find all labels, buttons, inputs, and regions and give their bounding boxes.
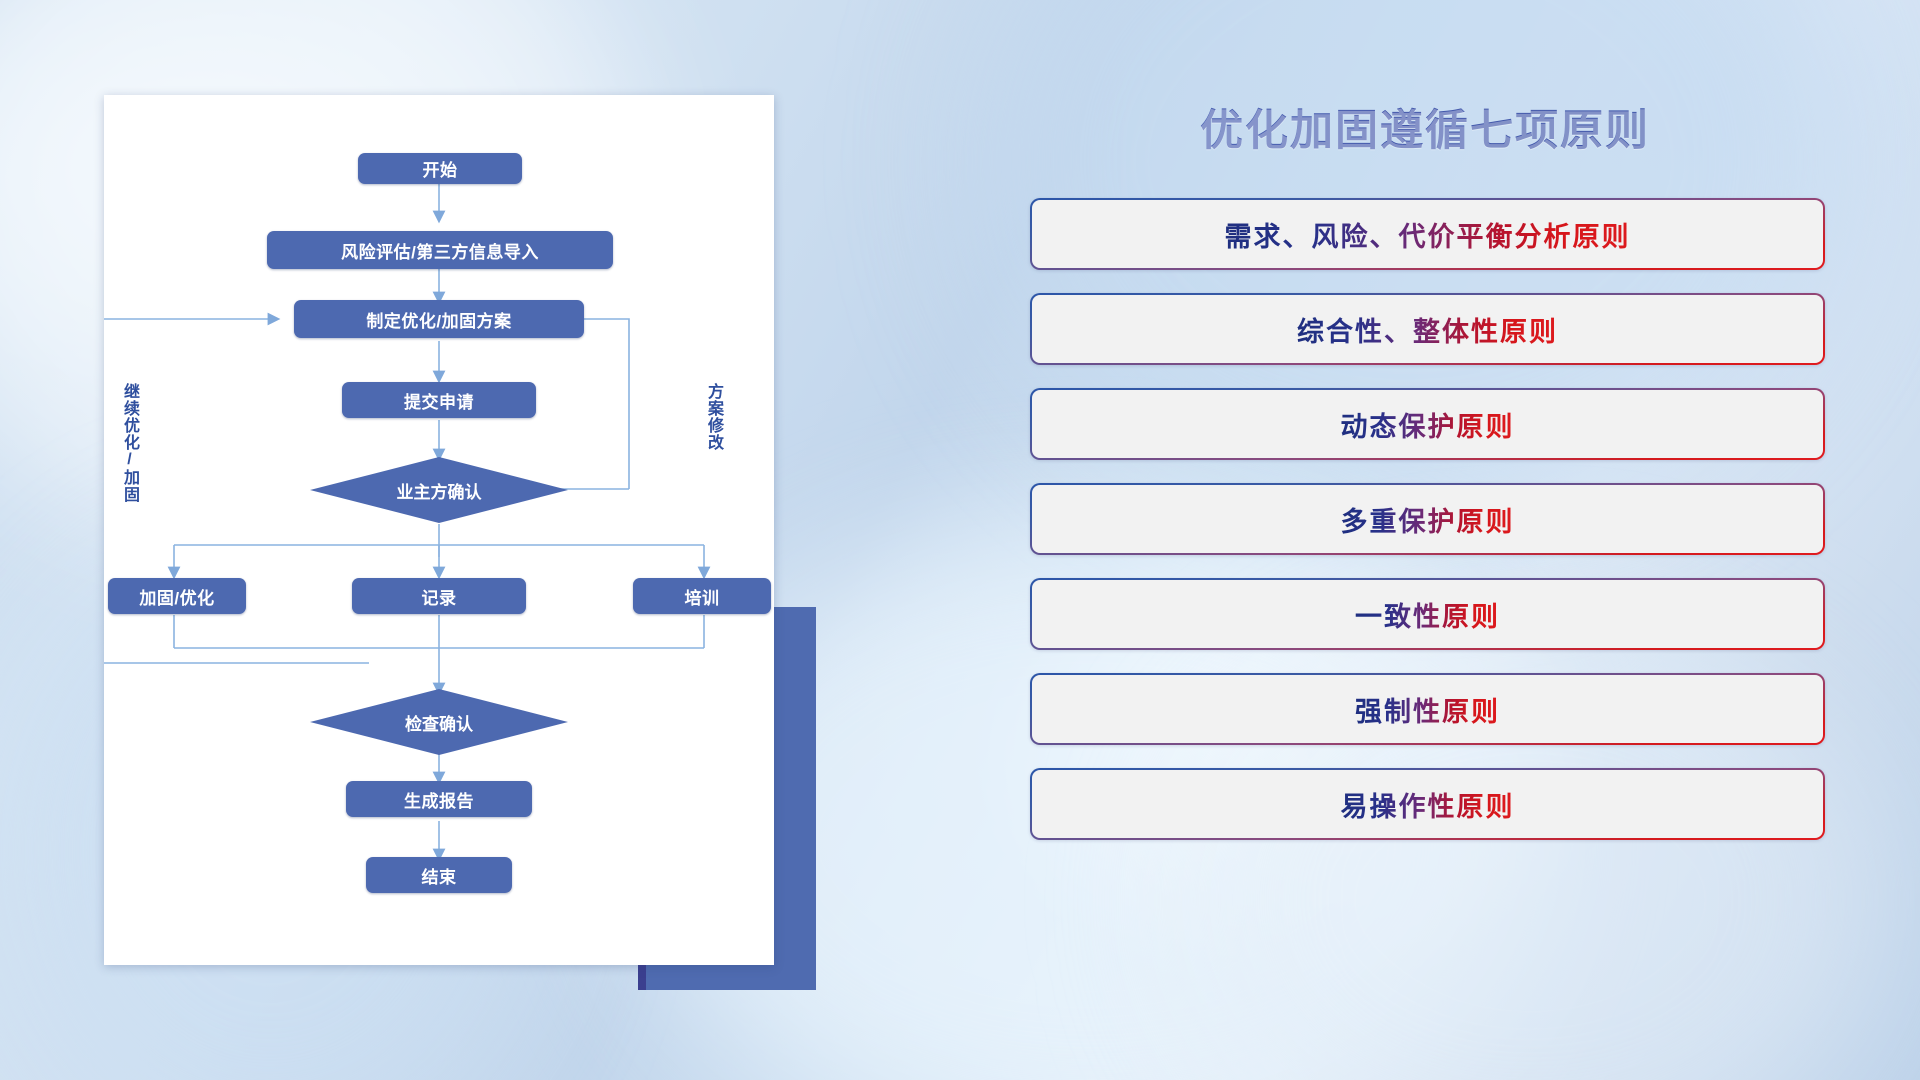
flow-node-reinforce-optimize[interactable]: 加固/优化 bbox=[108, 578, 246, 614]
principle-label-1: 需求、风险、代价平衡分析原则 bbox=[1225, 215, 1631, 254]
flow-node-start[interactable]: 开始 bbox=[358, 153, 522, 184]
principle-card-1[interactable]: 需求、风险、代价平衡分析原则 bbox=[1030, 198, 1825, 270]
flow-decision-check-confirm-label: 检查确认 bbox=[405, 710, 473, 735]
principle-card-inner: 综合性、整体性原则 bbox=[1032, 295, 1823, 363]
flow-node-plan-label: 制定优化/加固方案 bbox=[366, 307, 511, 332]
principle-label-4: 多重保护原则 bbox=[1341, 500, 1515, 539]
principles-panel: 优化加固遵循七项原则 需求、风险、代价平衡分析原则 综合性、整体性原则 动态保护… bbox=[1000, 80, 1850, 1010]
principle-card-inner: 多重保护原则 bbox=[1032, 485, 1823, 553]
flow-node-training-label: 培训 bbox=[685, 584, 720, 609]
flow-node-start-label: 开始 bbox=[423, 156, 458, 181]
flow-node-training[interactable]: 培训 bbox=[633, 578, 771, 614]
flow-node-risk-assessment-label: 风险评估/第三方信息导入 bbox=[341, 238, 539, 263]
principle-card-4[interactable]: 多重保护原则 bbox=[1030, 483, 1825, 555]
flow-edge-label-plan-revision: 方案修改 bbox=[704, 383, 721, 451]
slide-canvas: 开始 风险评估/第三方信息导入 制定优化/加固方案 提交申请 业主方确认 加固/… bbox=[0, 0, 1920, 1080]
principle-label-3: 动态保护原则 bbox=[1341, 405, 1515, 444]
principle-card-5[interactable]: 一致性原则 bbox=[1030, 578, 1825, 650]
flowchart-connectors bbox=[104, 95, 774, 965]
principle-label-6: 强制性原则 bbox=[1355, 690, 1500, 729]
flow-node-record[interactable]: 记录 bbox=[352, 578, 526, 614]
principle-card-inner: 动态保护原则 bbox=[1032, 390, 1823, 458]
flow-node-generate-report[interactable]: 生成报告 bbox=[346, 781, 532, 817]
flow-node-plan[interactable]: 制定优化/加固方案 bbox=[294, 300, 584, 338]
principle-card-inner: 易操作性原则 bbox=[1032, 770, 1823, 838]
flow-node-record-label: 记录 bbox=[422, 584, 457, 609]
flow-edge-label-continue-optimize: 继续优化/加固 bbox=[120, 383, 137, 503]
flow-decision-owner-confirm-label: 业主方确认 bbox=[397, 478, 482, 503]
principle-card-2[interactable]: 综合性、整体性原则 bbox=[1030, 293, 1825, 365]
flowchart-sheet: 开始 风险评估/第三方信息导入 制定优化/加固方案 提交申请 业主方确认 加固/… bbox=[104, 95, 774, 965]
flow-node-submit-application[interactable]: 提交申请 bbox=[342, 382, 536, 418]
flow-node-end[interactable]: 结束 bbox=[366, 857, 512, 893]
flow-node-end-label: 结束 bbox=[422, 863, 457, 888]
flow-decision-check-confirm[interactable]: 检查确认 bbox=[310, 689, 568, 755]
flow-node-risk-assessment[interactable]: 风险评估/第三方信息导入 bbox=[267, 231, 613, 269]
flow-node-reinforce-optimize-label: 加固/优化 bbox=[139, 584, 214, 609]
principle-card-7[interactable]: 易操作性原则 bbox=[1030, 768, 1825, 840]
flow-node-submit-application-label: 提交申请 bbox=[404, 388, 474, 413]
principles-list: 需求、风险、代价平衡分析原则 综合性、整体性原则 动态保护原则 多重保护原则 bbox=[1030, 198, 1825, 863]
principle-card-inner: 一致性原则 bbox=[1032, 580, 1823, 648]
principle-card-3[interactable]: 动态保护原则 bbox=[1030, 388, 1825, 460]
flow-decision-owner-confirm[interactable]: 业主方确认 bbox=[310, 457, 568, 523]
principle-label-5: 一致性原则 bbox=[1355, 595, 1500, 634]
principle-card-6[interactable]: 强制性原则 bbox=[1030, 673, 1825, 745]
principle-label-7: 易操作性原则 bbox=[1341, 785, 1515, 824]
flow-node-generate-report-label: 生成报告 bbox=[404, 787, 474, 812]
principle-label-2: 综合性、整体性原则 bbox=[1297, 310, 1558, 349]
principle-card-inner: 强制性原则 bbox=[1032, 675, 1823, 743]
principle-card-inner: 需求、风险、代价平衡分析原则 bbox=[1032, 200, 1823, 268]
page-title: 优化加固遵循七项原则 bbox=[1000, 96, 1850, 158]
